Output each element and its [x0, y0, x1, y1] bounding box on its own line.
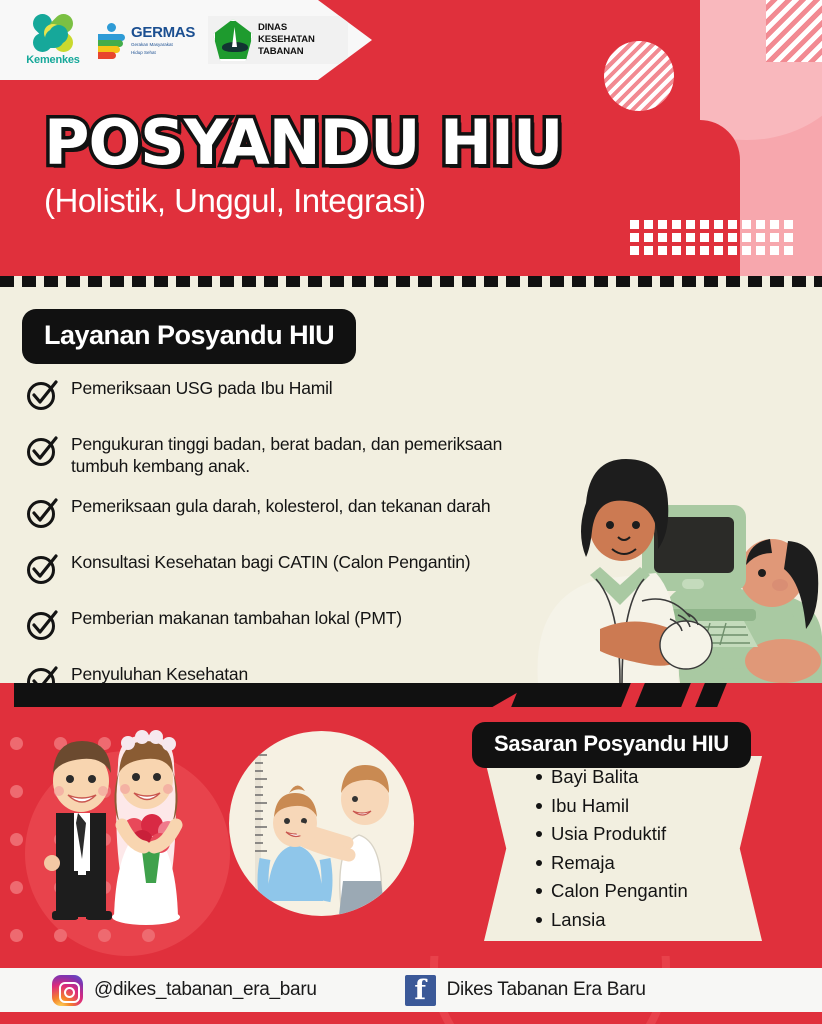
dinas-kesehatan-label: DINAS KESEHATAN TABANAN: [258, 22, 315, 58]
targets-heading: Sasaran Posyandu HIU: [472, 722, 751, 768]
facebook-icon: f: [405, 975, 436, 1006]
footer-section: @dikes_tabanan_era_baru f Dikes Tabanan …: [0, 956, 822, 1024]
target-item-label: Usia Produktif: [551, 825, 666, 844]
dashed-divider-top: [0, 276, 822, 287]
bullet-icon: [536, 774, 542, 780]
dinas-line-1: DINAS: [258, 22, 315, 34]
germas-wordmark: GERMAS Gerakan Masyarakat Hidup Sehat: [131, 25, 195, 55]
social-bar: @dikes_tabanan_era_baru f Dikes Tabanan …: [0, 968, 822, 1012]
service-item-label: Pemeriksaan USG pada Ibu Hamil: [71, 377, 332, 399]
poster-title: POSYANDU HIU: [44, 112, 664, 174]
check-circle-icon: [26, 435, 58, 472]
dot-grid-decoration: [630, 220, 798, 254]
wedding-couple-illustration: [30, 721, 215, 941]
tabanan-emblem-icon: [213, 19, 253, 61]
target-item-label: Ibu Hamil: [551, 797, 629, 816]
germas-tagline-line1: Gerakan Masyarakat: [131, 42, 195, 48]
slash-divider: [0, 683, 822, 713]
target-item-label: Lansia: [551, 911, 606, 930]
germas-figure-icon: [98, 22, 128, 58]
target-item-label: Calon Pengantin: [551, 882, 688, 901]
header-band: Kemenkes GERMAS Gerakan Masyarakat Hidup…: [0, 0, 822, 276]
poster-canvas: Kemenkes GERMAS Gerakan Masyarakat Hidup…: [0, 0, 822, 1024]
dinas-line-2: KESEHATAN: [258, 34, 315, 46]
service-item: Pemeriksaan USG pada Ibu Hamil: [26, 377, 556, 416]
service-item: Penyuluhan Kesehatan: [26, 663, 556, 683]
instagram-icon: [52, 975, 83, 1006]
target-item: Remaja: [536, 854, 688, 873]
kemenkes-flower-icon: [33, 14, 73, 52]
service-item-label: Pemberian makanan tambahan lokal (PMT): [71, 607, 402, 629]
service-item: Pengukuran tinggi badan, berat badan, da…: [26, 433, 556, 478]
check-circle-icon: [26, 665, 58, 683]
bullet-icon: [536, 917, 542, 923]
target-item: Usia Produktif: [536, 825, 688, 844]
bullet-icon: [536, 831, 542, 837]
service-item-label: Pemeriksaan gula darah, kolesterol, dan …: [71, 495, 490, 517]
kemenkes-logo: Kemenkes: [14, 14, 92, 66]
target-item-label: Remaja: [551, 854, 615, 873]
facebook-link[interactable]: f Dikes Tabanan Era Baru: [405, 975, 646, 1006]
logo-banner: Kemenkes GERMAS Gerakan Masyarakat Hidup…: [0, 0, 372, 80]
title-block: POSYANDU HIU (Holistik, Unggul, Integras…: [44, 112, 664, 220]
instagram-link[interactable]: @dikes_tabanan_era_baru: [52, 975, 317, 1006]
target-item: Lansia: [536, 911, 688, 930]
poster-subtitle: (Holistik, Unggul, Integrasi): [44, 182, 664, 220]
targets-panel: Bayi BalitaIbu HamilUsia ProduktifRemaja…: [484, 756, 762, 941]
ultrasound-illustration: [530, 433, 822, 683]
check-circle-icon: [26, 609, 58, 646]
germas-tagline-line2: Hidup Sehat: [131, 50, 195, 56]
service-item-label: Konsultasi Kesehatan bagi CATIN (Calon P…: [71, 551, 470, 573]
target-item-label: Bayi Balita: [551, 768, 638, 787]
targets-list: Bayi BalitaIbu HamilUsia ProduktifRemaja…: [536, 768, 688, 939]
bullet-icon: [536, 888, 542, 894]
facebook-page-name: Dikes Tabanan Era Baru: [447, 979, 646, 1001]
striped-circle-decoration: [604, 41, 674, 111]
check-circle-icon: [26, 497, 58, 534]
bullet-icon: [536, 803, 542, 809]
services-list: Pemeriksaan USG pada Ibu HamilPengukuran…: [26, 377, 556, 683]
service-item: Konsultasi Kesehatan bagi CATIN (Calon P…: [26, 551, 556, 590]
germas-title: GERMAS: [131, 25, 195, 40]
service-item: Pemeriksaan gula darah, kolesterol, dan …: [26, 495, 556, 534]
instagram-handle: @dikes_tabanan_era_baru: [94, 979, 317, 1001]
dinas-kesehatan-logo: DINAS KESEHATAN TABANAN: [208, 16, 348, 64]
target-item: Bayi Balita: [536, 768, 688, 787]
service-item-label: Pengukuran tinggi badan, berat badan, da…: [71, 433, 556, 478]
target-item: Calon Pengantin: [536, 882, 688, 901]
service-item-label: Penyuluhan Kesehatan: [71, 663, 248, 683]
germas-logo: GERMAS Gerakan Masyarakat Hidup Sehat: [98, 22, 202, 58]
check-circle-icon: [26, 553, 58, 590]
kemenkes-label: Kemenkes: [26, 54, 79, 66]
target-item: Ibu Hamil: [536, 797, 688, 816]
bullet-icon: [536, 860, 542, 866]
service-item: Pemberian makanan tambahan lokal (PMT): [26, 607, 556, 646]
services-section: Layanan Posyandu HIU: [0, 287, 822, 683]
striped-corner-decoration: [766, 0, 822, 62]
dinas-line-3: TABANAN: [258, 46, 315, 58]
height-measurement-illustration: [229, 731, 414, 916]
services-heading: Layanan Posyandu HIU: [22, 309, 356, 364]
check-circle-icon: [26, 379, 58, 416]
